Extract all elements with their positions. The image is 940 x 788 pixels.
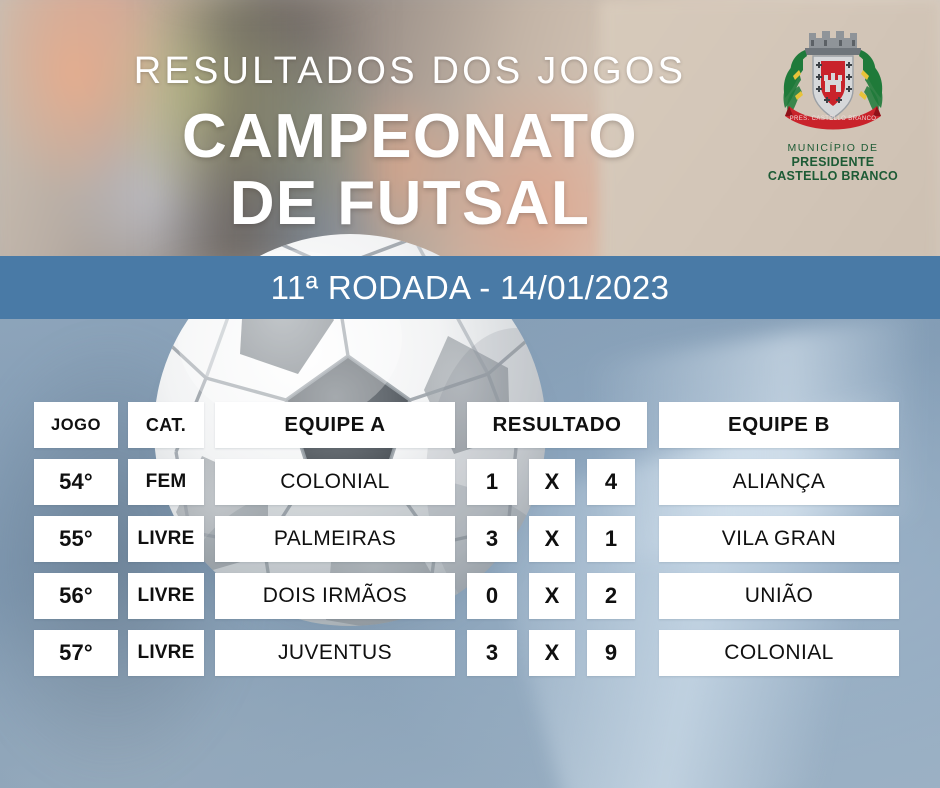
cell-score-b: 1 [587,516,635,562]
cell-equipe-b: UNIÃO [659,573,899,619]
cell-score-separator: X [529,459,575,505]
cell-equipe-a: COLONIAL [215,459,455,505]
cell-equipe-a: PALMEIRAS [215,516,455,562]
logo-line-1: MUNICÍPIO DE [758,142,908,154]
page-title-line1: CAMPEONATO [182,102,638,171]
cell-cat: FEM [128,459,204,505]
municipality-logo: PRES. CASTELLO BRANCO MUNICÍPIO DE PRESI… [758,28,908,183]
round-banner: 11ª RODADA - 14/01/2023 [0,256,940,319]
round-banner-text: 11ª RODADA - 14/01/2023 [271,269,670,307]
table-header-row: JOGO CAT. EQUIPE A RESULTADO EQUIPE B [34,402,906,448]
page-title-line2: DE FUTSAL [0,174,820,235]
column-header-resultado: RESULTADO [467,402,647,448]
column-header-cat: CAT. [128,402,204,448]
cell-score-a: 1 [467,459,517,505]
cell-equipe-b: ALIANÇA [659,459,899,505]
svg-text:PRES. CASTELLO BRANCO: PRES. CASTELLO BRANCO [790,116,877,122]
cell-jogo: 56° [34,573,118,619]
cell-equipe-a: DOIS IRMÃOS [215,573,455,619]
cell-score-b: 2 [587,573,635,619]
cell-jogo: 54° [34,459,118,505]
cell-resultado: 3 X 9 [467,630,647,676]
cell-jogo: 55° [34,516,118,562]
column-header-jogo: JOGO [34,402,118,448]
table-row: 54° FEM COLONIAL 1 X 4 ALIANÇA [34,459,906,505]
cell-resultado: 1 X 4 [467,459,647,505]
cell-resultado: 3 X 1 [467,516,647,562]
table-row: 57° LIVRE JUVENTUS 3 X 9 COLONIAL [34,630,906,676]
results-table: JOGO CAT. EQUIPE A RESULTADO EQUIPE B 54… [34,402,906,676]
cell-score-a: 3 [467,630,517,676]
cell-cat: LIVRE [128,516,204,562]
cell-score-b: 9 [587,630,635,676]
cell-score-b: 4 [587,459,635,505]
table-row: 55° LIVRE PALMEIRAS 3 X 1 VILA GRAN [34,516,906,562]
cell-resultado: 0 X 2 [467,573,647,619]
logo-line-2: PRESIDENTE CASTELLO BRANCO [758,155,908,183]
cell-score-a: 3 [467,516,517,562]
cell-score-separator: X [529,516,575,562]
cell-score-separator: X [529,573,575,619]
cell-score-separator: X [529,630,575,676]
cell-equipe-a: JUVENTUS [215,630,455,676]
cell-score-a: 0 [467,573,517,619]
table-row: 56° LIVRE DOIS IRMÃOS 0 X 2 UNIÃO [34,573,906,619]
cell-jogo: 57° [34,630,118,676]
coat-of-arms-crest-icon: PRES. CASTELLO BRANCO [769,28,897,140]
cell-equipe-b: COLONIAL [659,630,899,676]
column-header-equipe-b: EQUIPE B [659,402,899,448]
cell-equipe-b: VILA GRAN [659,516,899,562]
cell-cat: LIVRE [128,630,204,676]
cell-cat: LIVRE [128,573,204,619]
column-header-equipe-a: EQUIPE A [215,402,455,448]
